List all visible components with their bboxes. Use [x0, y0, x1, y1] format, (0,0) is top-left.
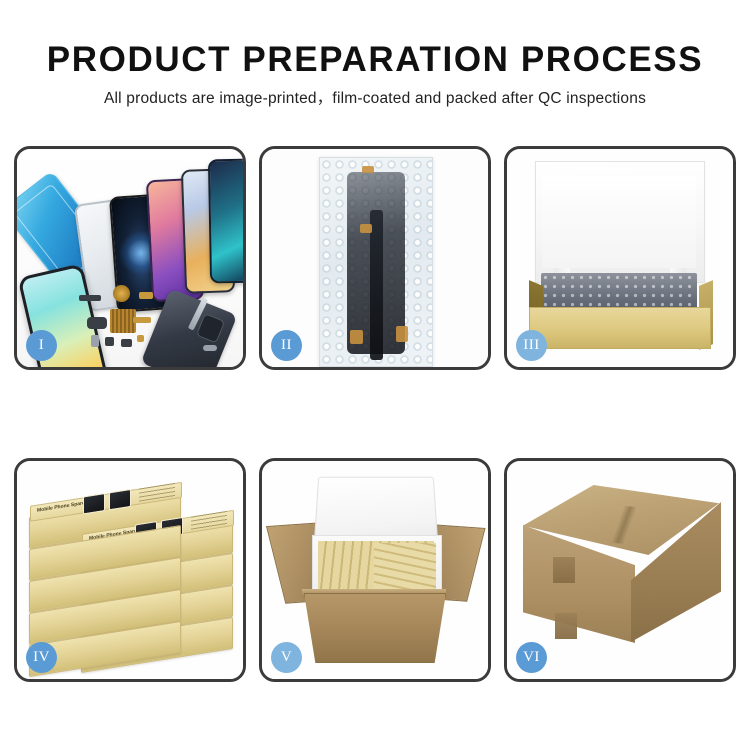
- page-title: PRODUCT PREPARATION PROCESS: [0, 0, 750, 77]
- tape-tab-bottom-left: [350, 330, 363, 344]
- step-badge-2: II: [271, 330, 302, 361]
- tape-strip-upper: [553, 557, 575, 583]
- packed-boxes-row-2: [374, 543, 436, 589]
- spare-part-small-1: [91, 335, 99, 347]
- step-badge-6: VI: [516, 642, 547, 673]
- spare-part-screws: [203, 345, 217, 351]
- process-step-panel-1: I: [14, 146, 246, 370]
- phone-teal-display: [208, 159, 243, 284]
- bubble-wrap-bag: [319, 157, 433, 367]
- process-step-panel-3: III: [504, 146, 736, 370]
- white-foam-insert: [542, 176, 696, 268]
- spare-part-small-2: [105, 337, 114, 346]
- box-window-2: [109, 489, 131, 510]
- tape-tab-top: [362, 166, 374, 173]
- process-step-panel-2: II: [259, 146, 491, 370]
- header: PRODUCT PREPARATION PROCESS All products…: [0, 0, 750, 107]
- box-foam-lid: [535, 161, 705, 283]
- spare-part-flex-cable: [87, 317, 107, 329]
- box-lid: Mobile Phone Spare Parts: [30, 482, 182, 522]
- step-badge-3: III: [516, 330, 547, 361]
- step-badge-1: I: [26, 330, 57, 361]
- page-subtitle: All products are image-printed，film-coat…: [0, 77, 750, 107]
- tape-strip-lower: [555, 613, 577, 639]
- process-step-grid: I II: [14, 146, 736, 682]
- tape-tab-mid: [360, 224, 372, 233]
- carton-front-wall: [304, 593, 446, 663]
- spare-part-speaker: [113, 285, 130, 302]
- spare-part-connector-2: [133, 317, 151, 323]
- step-badge-4: IV: [26, 642, 57, 673]
- product-preparation-infographic: PRODUCT PREPARATION PROCESS All products…: [0, 0, 750, 750]
- tape-tab-bottom-right: [396, 326, 408, 342]
- box-window-1: [83, 493, 105, 514]
- kraft-box-front: [529, 307, 711, 349]
- bubble-wrapped-contents: [541, 273, 697, 309]
- wrapped-flex-cable: [370, 210, 383, 360]
- process-step-panel-6: VI: [504, 458, 736, 682]
- spare-part-small-4: [137, 335, 144, 342]
- process-step-panel-4: Mobile Phone Spare Parts Mobile Phone Sp…: [14, 458, 246, 682]
- spare-part-small-3: [121, 339, 132, 347]
- process-step-panel-5: V: [259, 458, 491, 682]
- box-stack: Mobile Phone Spare Parts Mobile Phone Sp…: [23, 475, 237, 671]
- step-badge-5: V: [271, 642, 302, 673]
- spare-part-bracket-1: [79, 295, 101, 301]
- sealed-carton: [523, 485, 719, 655]
- spare-part-connector-1: [139, 292, 153, 299]
